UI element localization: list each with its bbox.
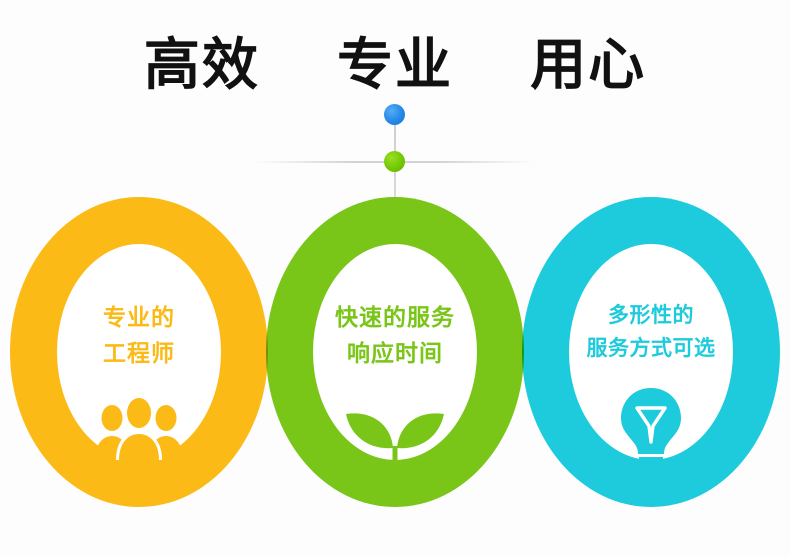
poster-canvas: 高效 专业 用心 专业的 工程师 (0, 0, 790, 557)
card-engineers-line1: 专业的 (10, 300, 268, 336)
people-icon (91, 398, 187, 465)
card-engineers[interactable]: 专业的 工程师 (10, 197, 268, 507)
blue-node-icon (384, 104, 405, 125)
card-engineers-text: 专业的 工程师 (10, 300, 268, 371)
card-flexible-line2: 服务方式可选 (522, 333, 780, 366)
card-flexible-line1: 多形性的 (522, 300, 780, 333)
card-response-line1: 快速的服务 (266, 300, 524, 336)
connector-group (0, 0, 790, 230)
card-response-text: 快速的服务 响应时间 (266, 300, 524, 371)
card-response-line2: 响应时间 (266, 336, 524, 372)
green-node-icon (384, 151, 405, 172)
card-response[interactable]: 快速的服务 响应时间 (266, 197, 524, 507)
lightbulb-icon (615, 386, 687, 475)
card-flexible-text: 多形性的 服务方式可选 (522, 300, 780, 365)
card-engineers-line2: 工程师 (10, 336, 268, 372)
sprout-icon (341, 400, 449, 479)
card-flexible[interactable]: 多形性的 服务方式可选 (522, 197, 780, 507)
